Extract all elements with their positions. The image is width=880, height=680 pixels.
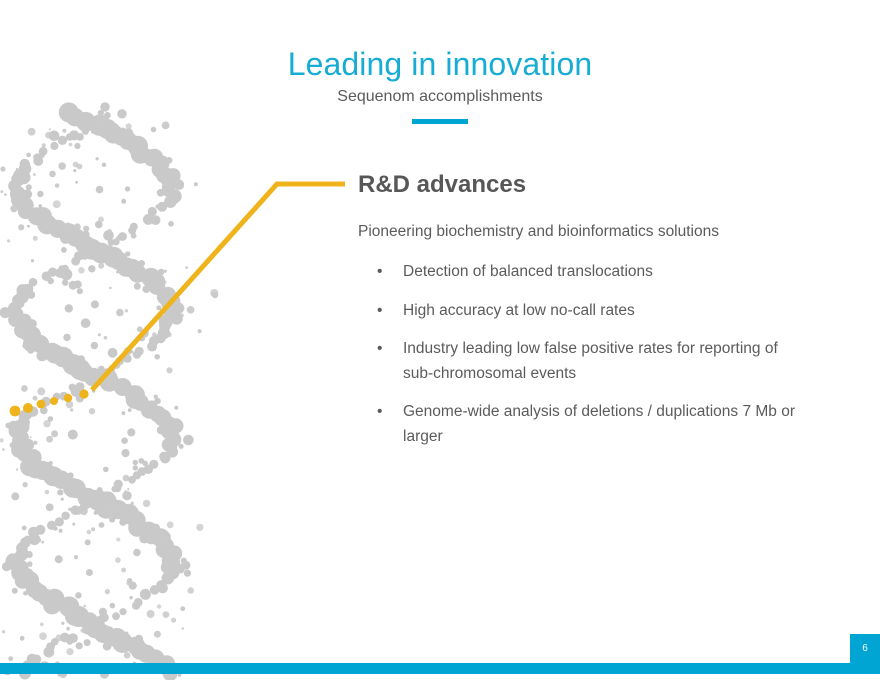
decorative-dot [73, 169, 76, 172]
decorative-dot [33, 236, 38, 241]
decorative-dot [81, 628, 85, 632]
decorative-dot [2, 630, 5, 633]
decorative-dot [161, 561, 174, 574]
decorative-dot [194, 182, 198, 186]
decorative-dot [78, 267, 85, 274]
decorative-dot [10, 205, 17, 212]
decorative-dot [20, 636, 25, 641]
decorative-dot [28, 527, 39, 538]
decorative-dot [83, 605, 86, 608]
decorative-dot [0, 438, 4, 442]
decorative-dot [141, 267, 145, 271]
decorative-dot [187, 587, 194, 594]
decorative-dot [16, 290, 29, 303]
decorative-dot [53, 393, 61, 401]
decorative-dot [57, 489, 63, 495]
decorative-dot [155, 204, 159, 208]
decorative-dot [69, 130, 79, 140]
connector-dot [37, 400, 46, 409]
decorative-dot [66, 648, 73, 655]
decorative-dot [84, 639, 91, 646]
decorative-dot [77, 288, 83, 294]
decorative-dot [103, 230, 114, 241]
decorative-dot [8, 313, 22, 327]
decorative-dot [17, 199, 23, 205]
decorative-dot [10, 186, 26, 202]
decorative-dot [130, 639, 140, 649]
decorative-dot [154, 409, 171, 426]
decorative-dot [109, 516, 115, 522]
decorative-dot [147, 610, 155, 618]
decorative-dot [99, 522, 105, 528]
decorative-dot [40, 623, 44, 627]
decorative-dot [37, 350, 48, 361]
decorative-dot [131, 502, 134, 505]
decorative-dot [124, 632, 128, 636]
decorative-dot [80, 507, 88, 515]
decorative-dot [80, 615, 86, 621]
decorative-dot [133, 460, 138, 465]
decorative-dot [69, 384, 76, 391]
decorative-dot [16, 468, 18, 470]
decorative-dot [119, 504, 140, 525]
decorative-dot [49, 220, 67, 238]
decorative-dot [26, 153, 31, 158]
decorative-dot [28, 468, 36, 476]
decorative-dot [49, 128, 51, 130]
decorative-dot [182, 561, 191, 570]
decorative-dot [156, 167, 173, 184]
decorative-dot [15, 549, 28, 562]
decorative-dot [26, 449, 42, 465]
decorative-dot [139, 335, 145, 341]
decorative-dot [74, 223, 81, 230]
decorative-dot [45, 490, 50, 495]
decorative-dot [83, 497, 89, 503]
title-block: Leading in innovation Sequenom accomplis… [0, 44, 880, 124]
decorative-dot [58, 136, 67, 145]
content-lead-text: Pioneering biochemistry and bioinformati… [358, 222, 810, 242]
slide-canvas: Leading in innovation Sequenom accomplis… [0, 0, 880, 680]
decorative-dot [180, 606, 185, 611]
decorative-dot [37, 191, 43, 197]
decorative-dot [120, 505, 123, 508]
decorative-dot [6, 553, 20, 567]
decorative-dot [154, 631, 161, 638]
decorative-dot [24, 420, 27, 423]
decorative-dot [87, 250, 91, 254]
decorative-dot [23, 536, 32, 545]
decorative-dot [60, 633, 70, 643]
decorative-dot [96, 157, 99, 160]
decorative-dot [164, 196, 176, 208]
decorative-dot [4, 193, 7, 196]
decorative-dot [158, 269, 165, 276]
decorative-dot [27, 291, 35, 299]
decorative-dot [23, 591, 27, 595]
decorative-dot [22, 482, 27, 487]
decorative-dot [10, 307, 23, 320]
decorative-dot [21, 385, 28, 392]
decorative-dot [127, 637, 145, 655]
decorative-dot [68, 430, 78, 440]
connector-dot [50, 397, 58, 405]
decorative-dot [109, 287, 112, 290]
decorative-dot [162, 554, 175, 567]
decorative-dot [168, 556, 181, 569]
bullet-text: Detection of balanced translocations [403, 263, 653, 280]
decorative-dot [62, 354, 83, 375]
decorative-dot [124, 347, 132, 355]
decorative-dot [96, 186, 104, 194]
decorative-dot [142, 652, 149, 659]
decorative-dot [41, 214, 46, 219]
bullet-text: Industry leading low false positive rate… [403, 340, 778, 382]
decorative-dot [123, 354, 131, 362]
decorative-dot [139, 533, 149, 543]
decorative-dot [20, 425, 23, 428]
decorative-dot [98, 368, 117, 387]
decorative-dot [42, 271, 52, 281]
decorative-dot [87, 530, 92, 535]
decorative-dot [17, 197, 34, 214]
decorative-dot [100, 372, 120, 392]
decorative-dot [85, 539, 91, 545]
decorative-dot [33, 461, 52, 480]
decorative-dot [12, 191, 19, 198]
decorative-dot [162, 587, 167, 592]
decorative-dot [160, 531, 171, 542]
decorative-dot [97, 616, 105, 624]
decorative-dot [22, 161, 30, 169]
decorative-dot [126, 391, 144, 409]
decorative-dot [26, 459, 46, 479]
decorative-dot [61, 622, 64, 625]
bullet-text: Genome-wide analysis of deletions / dupl… [403, 403, 795, 445]
decorative-dot [142, 285, 150, 293]
decorative-dot [24, 284, 34, 294]
decorative-dot [12, 588, 18, 594]
decorative-dot [63, 478, 83, 498]
decorative-dot [132, 602, 140, 610]
decorative-dot [162, 572, 175, 585]
decorative-dot [161, 173, 176, 188]
connector-dot-tail [10, 389, 89, 416]
decorative-dot [74, 618, 81, 625]
decorative-dot [90, 372, 97, 379]
decorative-dot [91, 243, 112, 264]
decorative-dot [75, 613, 81, 619]
decorative-dot [162, 574, 172, 584]
page-title: Leading in innovation [0, 44, 880, 84]
decorative-dot [61, 247, 67, 253]
decorative-dot [82, 231, 90, 239]
decorative-dot [212, 292, 219, 299]
decorative-dot [113, 361, 121, 369]
decorative-dot [125, 385, 145, 405]
decorative-dot [149, 460, 158, 469]
decorative-dot [0, 166, 5, 171]
decorative-dot [11, 173, 25, 187]
decorative-dot [13, 190, 28, 205]
decorative-dot [2, 562, 11, 571]
decorative-dot [16, 421, 30, 435]
decorative-dot [153, 348, 156, 351]
decorative-dot [39, 632, 47, 640]
decorative-dot [119, 608, 126, 615]
decorative-dot [162, 174, 173, 185]
decorative-dot [187, 306, 195, 314]
decorative-dot [91, 342, 98, 349]
decorative-dot [127, 428, 135, 436]
decorative-dot [11, 492, 19, 500]
decorative-dot [164, 293, 181, 310]
decorative-dot [80, 248, 89, 257]
decorative-dot [130, 223, 138, 231]
decorative-dot [113, 634, 119, 640]
decorative-dot [121, 437, 128, 444]
decorative-dot [182, 562, 186, 566]
decorative-dot [18, 224, 24, 230]
decorative-dot [55, 555, 63, 563]
decorative-dot [162, 438, 175, 451]
decorative-dot [148, 273, 165, 290]
decorative-dot [84, 374, 92, 382]
decorative-dot [74, 251, 83, 260]
decorative-dot [85, 618, 106, 639]
decorative-dot [81, 252, 88, 259]
decorative-dot [76, 394, 84, 402]
decorative-dot [102, 513, 106, 517]
decorative-dot [12, 433, 28, 449]
decorative-dot [115, 557, 121, 563]
decorative-dot [13, 169, 24, 180]
decorative-dot [64, 224, 71, 231]
decorative-dot [83, 361, 86, 364]
decorative-dot [74, 607, 86, 619]
decorative-dot [141, 329, 149, 337]
decorative-dot [2, 448, 5, 451]
decorative-dot [129, 596, 132, 599]
decorative-dot [55, 268, 65, 278]
decorative-dot [103, 254, 108, 259]
decorative-dot [128, 519, 146, 537]
decorative-dot [55, 183, 59, 187]
decorative-dot [54, 472, 58, 476]
decorative-dot [72, 523, 75, 526]
decorative-dot [167, 191, 180, 204]
decorative-dot [29, 563, 32, 566]
decorative-dot [26, 581, 43, 598]
decorative-dot [92, 629, 101, 638]
decorative-dot [88, 629, 94, 635]
decorative-dot [127, 488, 129, 490]
decorative-dot [47, 278, 54, 285]
decorative-dot [95, 221, 103, 229]
decorative-dot [152, 161, 169, 178]
decorative-dot [39, 400, 48, 409]
decorative-dot [168, 221, 174, 227]
decorative-dot [76, 642, 83, 649]
decorative-dot [143, 149, 160, 166]
decorative-dot [21, 571, 39, 589]
decorative-dot [66, 228, 85, 247]
decorative-dot [119, 518, 126, 525]
decorative-dot [0, 307, 11, 318]
decorative-dot [43, 420, 50, 427]
decorative-dot [129, 582, 137, 590]
decorative-dot [137, 645, 155, 663]
decorative-dot [84, 368, 103, 387]
bullet-item: •Industry leading low false positive rat… [358, 337, 810, 386]
decorative-dot [177, 308, 183, 314]
decorative-dot [118, 232, 127, 241]
decorative-dot [83, 226, 89, 232]
connector-dot [79, 389, 88, 398]
decorative-dot [39, 591, 46, 598]
decorative-dot [71, 257, 80, 266]
decorative-dot [125, 251, 130, 256]
decorative-dot [68, 135, 73, 140]
decorative-dot [17, 284, 30, 297]
decorative-dot [68, 472, 74, 478]
decorative-dot [132, 400, 137, 405]
decorative-dot [89, 408, 95, 414]
bullet-marker-icon: • [377, 400, 382, 425]
decorative-dot [183, 435, 194, 446]
decorative-dot [11, 443, 26, 458]
decorative-dot [150, 406, 167, 423]
decorative-dot [90, 621, 100, 631]
decorative-dot [152, 332, 156, 336]
decorative-dot [129, 350, 133, 354]
decorative-dot [96, 498, 117, 519]
decorative-dot [89, 496, 98, 505]
decorative-dot [92, 626, 96, 630]
decorative-dot [124, 128, 133, 137]
decorative-dot [18, 175, 23, 180]
decorative-dot [162, 537, 168, 543]
decorative-dot [59, 596, 80, 617]
decorative-dot [134, 649, 136, 651]
decorative-dot [26, 185, 30, 189]
decorative-dot [185, 266, 188, 269]
decorative-dot [102, 375, 108, 381]
decorative-dot [67, 479, 86, 498]
decorative-dot [93, 620, 100, 627]
decorative-dot [27, 561, 32, 566]
decorative-dot [14, 322, 30, 338]
decorative-dot [47, 521, 56, 530]
decorative-dot [51, 638, 59, 646]
decorative-dot [48, 416, 54, 422]
decorative-dot [61, 512, 69, 520]
decorative-dot [165, 441, 177, 453]
decorative-dot [77, 355, 85, 363]
decorative-dot [46, 436, 53, 443]
decorative-dot [53, 526, 58, 531]
decorative-dot [92, 248, 95, 251]
decorative-dot [116, 270, 119, 273]
decorative-dot [33, 173, 36, 176]
decorative-dot [19, 163, 32, 176]
decorative-dot [146, 276, 152, 282]
decorative-dot [15, 169, 23, 177]
page-number-badge: 6 [850, 634, 880, 663]
decorative-dot [175, 564, 185, 574]
decorative-dot [11, 181, 17, 187]
decorative-dot [91, 621, 98, 628]
decorative-dot [70, 386, 78, 394]
decorative-dot [160, 287, 177, 304]
decorative-dot [116, 537, 120, 541]
decorative-dot [160, 416, 176, 432]
decorative-dot [125, 511, 130, 516]
decorative-dot [55, 517, 64, 526]
decorative-dot [19, 410, 30, 421]
decorative-dot [66, 627, 70, 631]
decorative-dot [91, 249, 95, 253]
decorative-dot [35, 525, 45, 535]
decorative-dot [150, 339, 155, 344]
decorative-dot [49, 131, 60, 142]
decorative-dot [49, 461, 53, 465]
decorative-dot [88, 265, 95, 272]
decorative-dot [96, 252, 102, 258]
decorative-dot [127, 511, 146, 530]
decorative-dot [84, 237, 96, 249]
decorative-dot [150, 284, 157, 291]
decorative-dot [33, 153, 41, 161]
decorative-dot [68, 633, 78, 643]
decorative-dot [28, 128, 36, 136]
decorative-dot [19, 324, 37, 342]
decorative-dot [124, 652, 131, 659]
decorative-dot [39, 221, 45, 227]
decorative-dot [45, 344, 64, 363]
decorative-dot [66, 133, 73, 140]
decorative-dot [155, 333, 165, 343]
decorative-dot [66, 638, 73, 645]
decorative-dot [11, 191, 28, 208]
decorative-dot [58, 162, 66, 170]
content-heading: R&D advances [358, 170, 810, 200]
decorative-dot [98, 257, 102, 261]
decorative-dot [116, 309, 124, 317]
decorative-dot [159, 452, 169, 462]
decorative-dot [64, 604, 75, 615]
decorative-dot [49, 171, 56, 178]
decorative-dot [92, 389, 96, 393]
decorative-dot [8, 180, 20, 192]
decorative-dot [166, 168, 181, 183]
decorative-dot [134, 283, 141, 290]
decorative-dot [105, 492, 114, 501]
decorative-dot [164, 270, 167, 273]
decorative-dot [16, 542, 28, 554]
decorative-dot [154, 354, 160, 360]
decorative-dot [157, 426, 166, 435]
decorative-dot [75, 508, 82, 515]
decorative-dot [147, 342, 157, 352]
decorative-dot [34, 207, 52, 225]
decorative-dot [22, 439, 34, 451]
decorative-dot [160, 453, 170, 463]
decorative-dot [30, 330, 34, 334]
decorative-dot [55, 634, 62, 641]
decorative-dot [69, 143, 73, 147]
decorative-dot [159, 540, 163, 544]
